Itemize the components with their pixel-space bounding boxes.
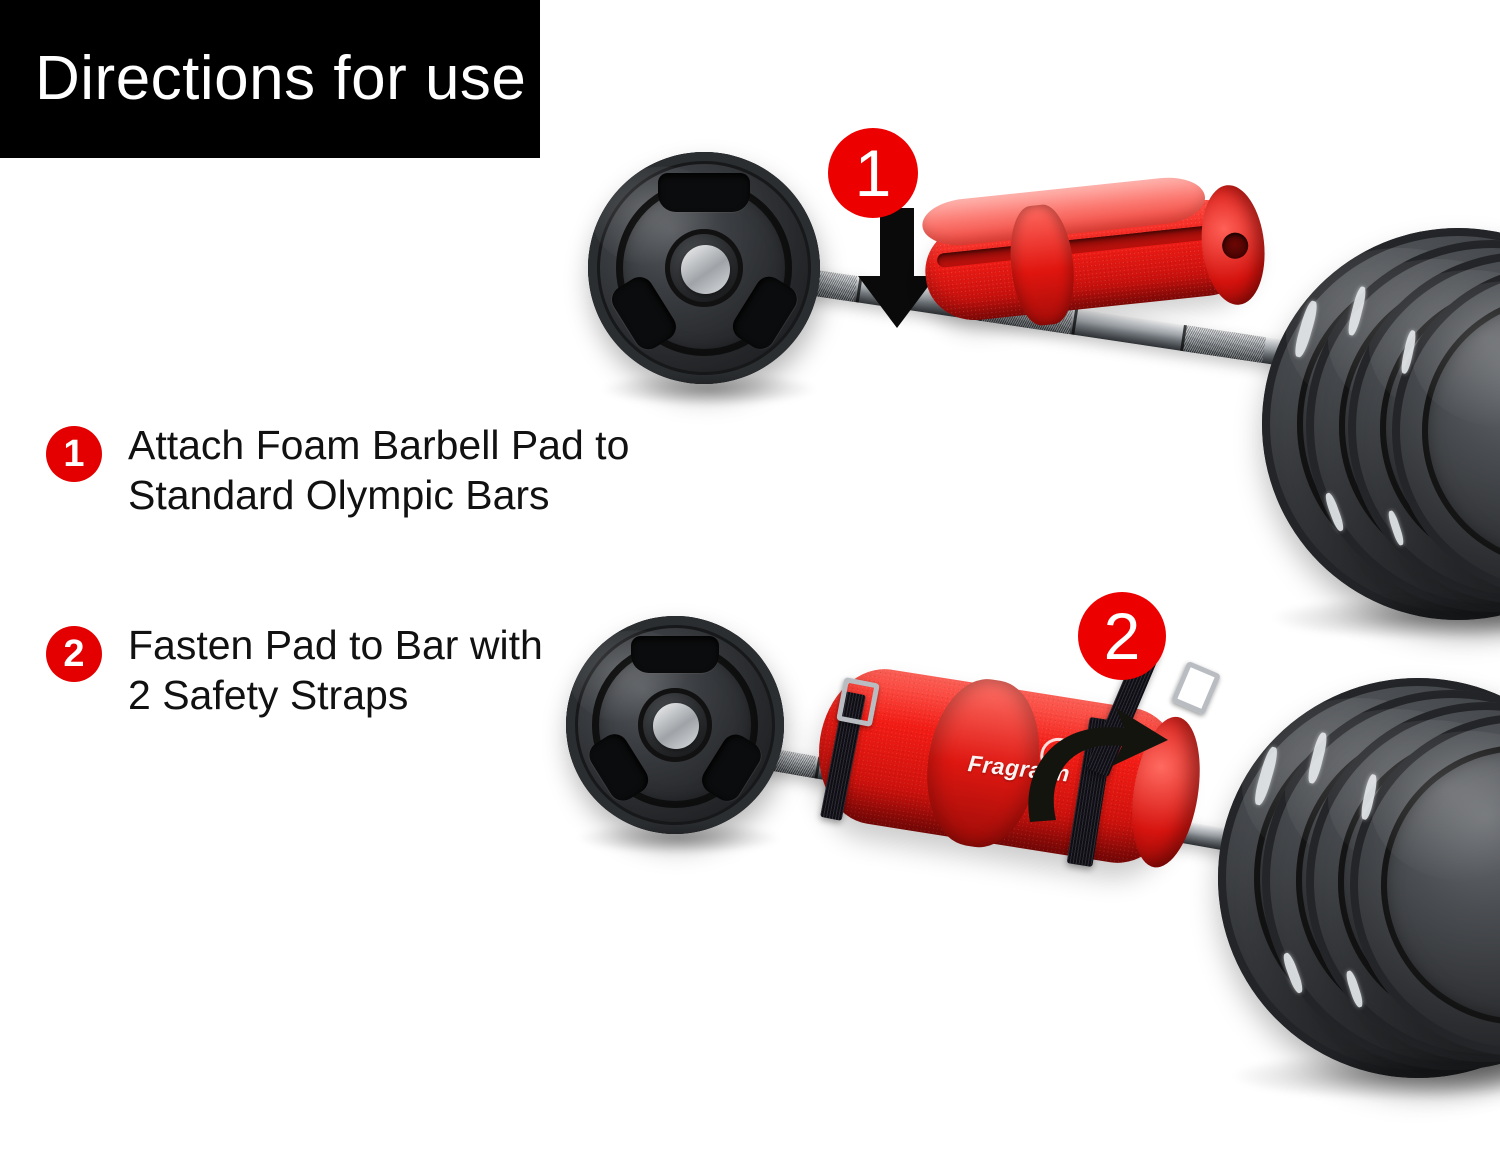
step-marker-one: 1 [828, 128, 918, 218]
step-marker-two: 2 [1078, 592, 1166, 680]
plate-shadow [576, 822, 782, 854]
stack-shadow [1230, 1052, 1500, 1100]
scene-step-one: 1 [0, 0, 1500, 560]
foam-pad-open-icon [918, 169, 1262, 353]
olympic-tri-grip-plate-icon [588, 152, 820, 384]
product-instruction-graphic: Directions for use 1 Attach Foam Barbell… [0, 0, 1500, 1159]
olympic-tri-grip-plate-icon [566, 616, 784, 834]
curved-arrow-icon [1012, 702, 1182, 830]
scene-step-two: Fragraim 2 [0, 560, 1500, 1159]
plate-shadow [600, 372, 818, 406]
